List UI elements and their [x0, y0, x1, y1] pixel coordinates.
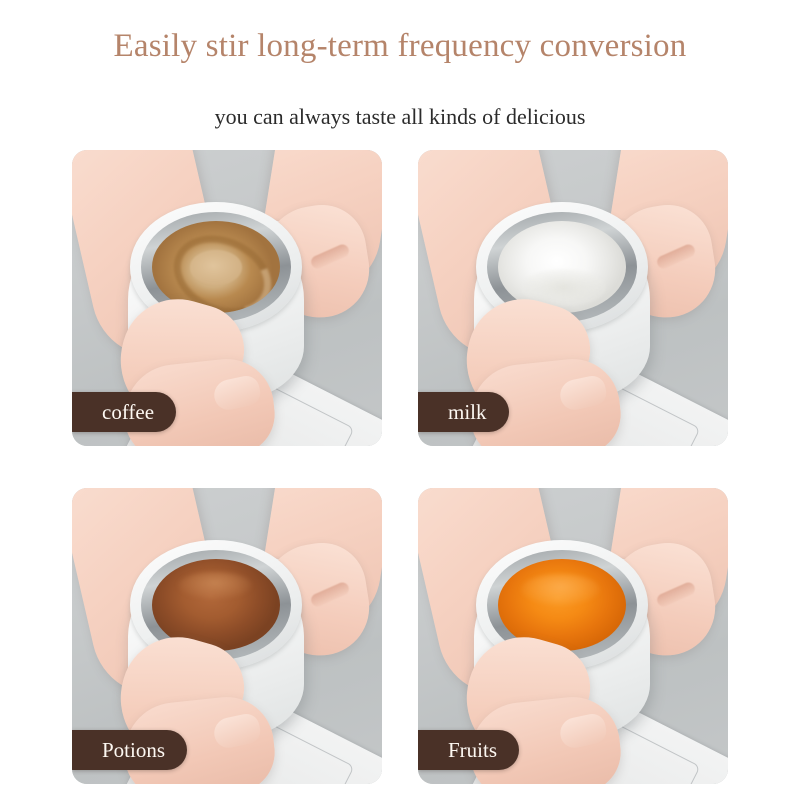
product-photo-grid: coffee milk: [72, 150, 728, 784]
page-title: Easily stir long-term frequency conversi…: [0, 26, 800, 66]
page-subtitle: you can always taste all kinds of delici…: [0, 103, 800, 131]
photo-panel-coffee[interactable]: coffee: [72, 150, 382, 446]
photo-panel-fruits[interactable]: Fruits: [418, 488, 728, 784]
panel-label-fruits: Fruits: [418, 730, 519, 770]
header-block: Easily stir long-term frequency conversi…: [0, 0, 800, 140]
panel-label-milk: milk: [418, 392, 509, 432]
panel-label-coffee: coffee: [72, 392, 176, 432]
photo-panel-potions[interactable]: Potions: [72, 488, 382, 784]
panel-label-potions: Potions: [72, 730, 187, 770]
photo-panel-milk[interactable]: milk: [418, 150, 728, 446]
